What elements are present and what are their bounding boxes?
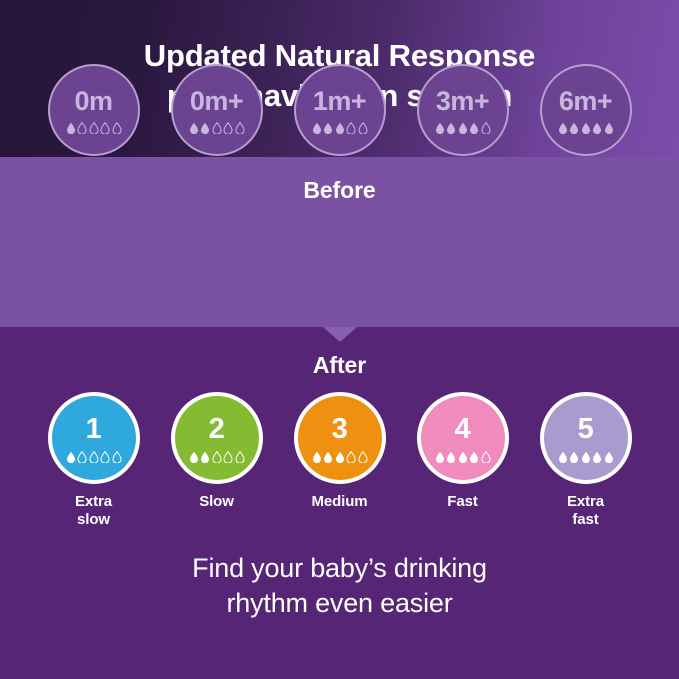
droplet-filled-icon [335,122,345,134]
before-age-label: 3m+ [436,88,489,115]
droplet-filled-icon [592,122,602,134]
after-pace-circle[interactable]: 2 [171,392,263,484]
droplet-empty-icon [77,451,87,463]
droplet-empty-icon [77,122,87,134]
droplet-filled-icon [335,451,345,463]
droplet-rating [558,121,614,134]
after-pace-number: 4 [455,415,471,444]
droplet-filled-icon [581,122,591,134]
droplet-empty-icon [89,122,99,134]
droplet-empty-icon [481,451,491,463]
after-item: 5Extrafast [530,392,642,530]
before-age-circle[interactable]: 0m [48,64,140,156]
before-item: 0m+ [161,64,273,156]
before-circle-row: 0m0m+1m+3m+6m+ [0,64,679,156]
before-age-circle[interactable]: 0m+ [171,64,263,156]
after-pace-circle[interactable]: 4 [417,392,509,484]
before-heading: Before [0,177,679,204]
pace-navigation-infographic: Updated Natural Response pace navigation… [0,0,679,679]
after-item: 2Slow [161,392,273,511]
droplet-filled-icon [66,122,76,134]
after-circle-row: 1Extraslow2Slow3Medium4Fast5Extrafast [0,392,679,530]
droplet-filled-icon [323,122,333,134]
droplet-filled-icon [312,451,322,463]
after-pace-name: Slow [199,493,234,511]
droplet-rating [312,450,368,463]
chevron-down-icon [323,327,357,342]
droplet-filled-icon [446,122,456,134]
droplet-rating [189,121,245,134]
before-age-label: 1m+ [313,88,366,115]
droplet-filled-icon [200,122,210,134]
droplet-empty-icon [212,451,222,463]
droplet-filled-icon [469,122,479,134]
after-pace-name-line-1: Fast [447,493,477,511]
droplet-empty-icon [358,451,368,463]
before-age-circle[interactable]: 3m+ [417,64,509,156]
droplet-rating [312,121,368,134]
after-pace-name: Medium [311,493,367,511]
after-pace-name: Fast [447,493,477,511]
droplet-filled-icon [446,451,456,463]
before-item: 3m+ [407,64,519,156]
droplet-filled-icon [200,451,210,463]
droplet-filled-icon [469,451,479,463]
droplet-filled-icon [604,451,614,463]
after-pace-name-line-2: slow [75,511,112,529]
droplet-empty-icon [358,122,368,134]
after-pace-circle[interactable]: 5 [540,392,632,484]
after-pace-number: 2 [209,415,225,444]
after-pace-name: Extrafast [567,493,604,530]
droplet-filled-icon [323,451,333,463]
droplet-empty-icon [89,451,99,463]
after-pace-name-line-1: Extra [567,493,604,511]
droplet-filled-icon [569,451,579,463]
droplet-empty-icon [112,122,122,134]
after-item: 1Extraslow [38,392,150,530]
droplet-filled-icon [435,122,445,134]
droplet-empty-icon [223,451,233,463]
after-pace-name: Extraslow [75,493,112,530]
before-age-label: 0m [74,88,112,115]
after-pace-name-line-2: fast [567,511,604,529]
droplet-filled-icon [581,451,591,463]
after-pace-number: 5 [578,415,594,444]
after-pace-circle[interactable]: 3 [294,392,386,484]
after-pace-circle[interactable]: 1 [48,392,140,484]
before-age-label: 6m+ [559,88,612,115]
after-pace-name-line-1: Extra [75,493,112,511]
droplet-filled-icon [558,451,568,463]
droplet-empty-icon [346,122,356,134]
droplet-filled-icon [189,451,199,463]
droplet-empty-icon [212,122,222,134]
droplet-filled-icon [312,122,322,134]
droplet-rating [435,450,491,463]
droplet-rating [558,450,614,463]
droplet-rating [66,121,122,134]
droplet-rating [66,450,122,463]
droplet-empty-icon [346,451,356,463]
droplet-filled-icon [189,122,199,134]
droplet-filled-icon [66,451,76,463]
droplet-filled-icon [458,451,468,463]
droplet-rating [435,121,491,134]
before-age-label: 0m+ [190,88,243,115]
droplet-empty-icon [235,451,245,463]
before-age-circle[interactable]: 1m+ [294,64,386,156]
droplet-empty-icon [223,122,233,134]
before-section: Before [0,157,679,327]
before-item: 1m+ [284,64,396,156]
after-pace-name-line-1: Medium [311,493,367,511]
after-item: 3Medium [284,392,396,511]
droplet-empty-icon [100,451,110,463]
droplet-filled-icon [592,451,602,463]
droplet-empty-icon [100,122,110,134]
droplet-filled-icon [458,122,468,134]
droplet-filled-icon [569,122,579,134]
after-item: 4Fast [407,392,519,511]
droplet-rating [189,450,245,463]
droplet-empty-icon [112,451,122,463]
footer-line-2: rhythm even easier [0,586,679,621]
after-pace-number: 3 [332,415,348,444]
before-item: 0m [38,64,150,156]
droplet-empty-icon [481,122,491,134]
after-heading: After [0,352,679,379]
footer-tagline: Find your baby’s drinking rhythm even ea… [0,551,679,621]
footer-line-1: Find your baby’s drinking [0,551,679,586]
after-pace-name-line-1: Slow [199,493,234,511]
droplet-filled-icon [558,122,568,134]
after-pace-number: 1 [86,415,102,444]
before-age-circle[interactable]: 6m+ [540,64,632,156]
droplet-filled-icon [604,122,614,134]
droplet-filled-icon [435,451,445,463]
droplet-empty-icon [235,122,245,134]
before-item: 6m+ [530,64,642,156]
